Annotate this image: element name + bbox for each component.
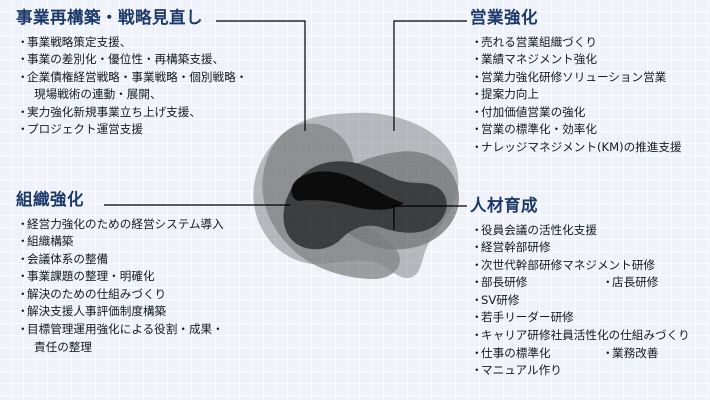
bullet-icon: ・: [471, 239, 483, 257]
list-item-text: 業務改善: [612, 346, 658, 360]
bullet-icon: ・: [17, 303, 29, 321]
list-item-text: 提案力向上: [481, 87, 539, 101]
bullet-icon: ・: [471, 309, 483, 327]
list-organizational-enhancement: ・経営力強化のための経営システム導入 ・組織構築 ・会議体系の整備 ・事業課題の…: [16, 216, 224, 357]
bullet-icon: ・: [471, 292, 483, 310]
panel-title-organizational-enhancement: 組織強化: [16, 192, 224, 209]
list-item: ・解決のための仕組みづくり: [16, 286, 224, 304]
bullet-icon: ・: [17, 251, 29, 269]
list-item: ・付加価値営業の強化: [470, 104, 682, 122]
list-item: ・実力強化新規事業立ち上げ支援、: [16, 104, 247, 122]
bullet-icon: ・: [17, 51, 29, 69]
list-item-text: 次世代幹部研修マネジメント研修: [481, 258, 655, 272]
bullet-icon: ・: [17, 233, 29, 251]
bullet-icon: ・: [471, 86, 483, 104]
bullet-icon: ・: [471, 34, 483, 52]
bullet-icon: ・: [17, 321, 29, 339]
bullet-icon: ・: [471, 257, 483, 275]
list-sales-enhancement: ・売れる営業組織づくり ・業績マネジメント強化 ・営業力強化研修ソリューション営…: [470, 34, 682, 157]
list-item-text: 付加価値営業の強化: [481, 105, 585, 119]
bullet-icon: ・: [17, 34, 29, 52]
list-item: ・プロジェクト運営支援: [16, 121, 247, 139]
list-item: ・次世代幹部研修マネジメント研修: [470, 257, 690, 275]
list-item: ・解決支援人事評価制度構築: [16, 303, 224, 321]
list-item-text: SV研修: [481, 293, 519, 307]
bullet-icon: ・: [471, 69, 483, 87]
panel-business-restructuring: 事業再構築・戦略見直し ・事業戦略策定支援、 ・事業の差別化・優位性・再構築支援…: [16, 10, 247, 139]
two-column-row: 仕事の標準化 ・業務改善: [481, 345, 690, 363]
list-item-text: キャリア研修社員活性化の仕組みづくり: [481, 328, 690, 342]
list-item: ・事業の差別化・優位性・再構築支援、: [16, 51, 247, 69]
list-item: ・経営幹部研修: [470, 239, 690, 257]
list-item: ・ナレッジマネジメント(KM)の推進支援: [470, 139, 682, 157]
list-item-text: 実力強化新規事業立ち上げ支援、: [27, 105, 201, 119]
panel-human-resource-development: 人材育成 ・役員会議の活性化支援 ・経営幹部研修 ・次世代幹部研修マネジメント研…: [470, 198, 690, 380]
list-item-secondary: ・業務改善: [601, 345, 658, 363]
list-item-continuation: 現場戦術の連動・展開、: [16, 86, 247, 104]
list-item-text: プロジェクト運営支援: [27, 122, 143, 136]
list-item: ・マニュアル作り: [470, 362, 690, 380]
list-item-text: 業績マネジメント強化: [481, 52, 597, 66]
list-item-text: 目標管理運用強化による役割・成果・: [27, 322, 224, 336]
list-item: ・営業力強化研修ソリューション営業: [470, 69, 682, 87]
bullet-icon: ・: [17, 69, 29, 87]
bullet-icon: ・: [471, 104, 483, 122]
list-item-text: 営業力強化研修ソリューション営業: [481, 70, 666, 84]
bullet-icon: ・: [17, 104, 29, 122]
list-item-text: 事業課題の整理・明確化: [27, 269, 155, 283]
list-item: ・ 部長研修 ・店長研修: [470, 274, 690, 292]
list-item-text: 仕事の標準化: [481, 345, 601, 363]
list-item-text: マニュアル作り: [481, 363, 562, 377]
panel-title-sales-enhancement: 営業強化: [470, 10, 682, 27]
list-item-text: 組織構築: [27, 234, 73, 248]
list-item-text: 事業の差別化・優位性・再構築支援、: [27, 52, 224, 66]
connector-sales-enhancement: [394, 21, 467, 131]
list-item: ・SV研修: [470, 292, 690, 310]
diagram-canvas: 事業再構築・戦略見直し ・事業戦略策定支援、 ・事業の差別化・優位性・再構築支援…: [0, 0, 710, 400]
bullet-icon: ・: [471, 327, 483, 345]
blob-shape-left: [262, 124, 400, 279]
list-item: ・企業債権経営戦略・事業戦略・個別戦略・: [16, 69, 247, 87]
bullet-icon: ・: [602, 345, 614, 363]
blob-shape-inner-dark: [284, 161, 447, 249]
list-item-text: 事業戦略策定支援、: [27, 35, 131, 49]
bullet-icon: ・: [471, 121, 483, 139]
list-item-text: 現場戦術の連動・展開、: [34, 87, 162, 101]
bullet-icon: ・: [471, 362, 483, 380]
list-item-text: 役員会議の活性化支援: [481, 223, 597, 237]
list-item-text: 若手リーダー研修: [481, 310, 574, 324]
list-human-resource-development: ・役員会議の活性化支援 ・経営幹部研修 ・次世代幹部研修マネジメント研修 ・ 部…: [470, 222, 690, 380]
bullet-icon: ・: [17, 121, 29, 139]
list-item-text: 部長研修: [481, 274, 601, 292]
list-item: ・提案力向上: [470, 86, 682, 104]
bullet-icon: ・: [17, 286, 29, 304]
list-item: ・業績マネジメント強化: [470, 51, 682, 69]
list-item-text: 営業の標準化・効率化: [481, 122, 597, 136]
list-item: ・若手リーダー研修: [470, 309, 690, 327]
list-item: ・事業課題の整理・明確化: [16, 268, 224, 286]
list-item-text: 経営幹部研修: [481, 240, 551, 254]
list-item: ・会議体系の整備: [16, 251, 224, 269]
bullet-icon: ・: [471, 274, 483, 292]
list-item-text: 売れる営業組織づくり: [481, 35, 597, 49]
list-item-text: 責任の整理: [34, 340, 92, 354]
list-business-restructuring: ・事業戦略策定支援、 ・事業の差別化・優位性・再構築支援、 ・企業債権経営戦略・…: [16, 34, 247, 140]
list-item-text: 会議体系の整備: [27, 252, 108, 266]
blob-shape-core: [291, 171, 404, 209]
list-item-continuation: 責任の整理: [16, 339, 224, 357]
list-item-text: 経営力強化のための経営システム導入: [27, 217, 224, 231]
list-item: ・役員会議の活性化支援: [470, 222, 690, 240]
blob-shape-right: [331, 151, 459, 249]
bullet-icon: ・: [471, 222, 483, 240]
list-item: ・経営力強化のための経営システム導入: [16, 216, 224, 234]
bullet-icon: ・: [602, 274, 614, 292]
bullet-icon: ・: [17, 216, 29, 234]
list-item-text: ナレッジマネジメント(KM)の推進支援: [481, 140, 682, 154]
panel-title-business-restructuring: 事業再構築・戦略見直し: [16, 10, 247, 27]
list-item: ・事業戦略策定支援、: [16, 34, 247, 52]
panel-organizational-enhancement: 組織強化 ・経営力強化のための経営システム導入 ・組織構築 ・会議体系の整備 ・…: [16, 192, 224, 356]
panel-sales-enhancement: 営業強化 ・売れる営業組織づくり ・業績マネジメント強化 ・営業力強化研修ソリュ…: [470, 10, 682, 157]
list-item-text: 解決支援人事評価制度構築: [27, 304, 166, 318]
list-item: ・目標管理運用強化による役割・成果・: [16, 321, 224, 339]
list-item-text: 店長研修: [612, 275, 658, 289]
connector-human-resource-development: [394, 206, 467, 230]
two-column-row: 部長研修 ・店長研修: [481, 274, 690, 292]
bullet-icon: ・: [471, 345, 483, 363]
list-item: ・キャリア研修社員活性化の仕組みづくり: [470, 327, 690, 345]
list-item-secondary: ・店長研修: [601, 274, 658, 292]
bullet-icon: ・: [471, 139, 483, 157]
list-item-text: 企業債権経営戦略・事業戦略・個別戦略・: [27, 70, 247, 84]
list-item: ・売れる営業組織づくり: [470, 34, 682, 52]
bullet-icon: ・: [471, 51, 483, 69]
panel-title-human-resource-development: 人材育成: [470, 198, 690, 215]
list-item-text: 解決のための仕組みづくり: [27, 287, 166, 301]
list-item: ・組織構築: [16, 233, 224, 251]
list-item: ・営業の標準化・効率化: [470, 121, 682, 139]
list-item: ・ 仕事の標準化 ・業務改善: [470, 345, 690, 363]
bullet-icon: ・: [17, 268, 29, 286]
blob-shape-outer: [253, 113, 458, 278]
